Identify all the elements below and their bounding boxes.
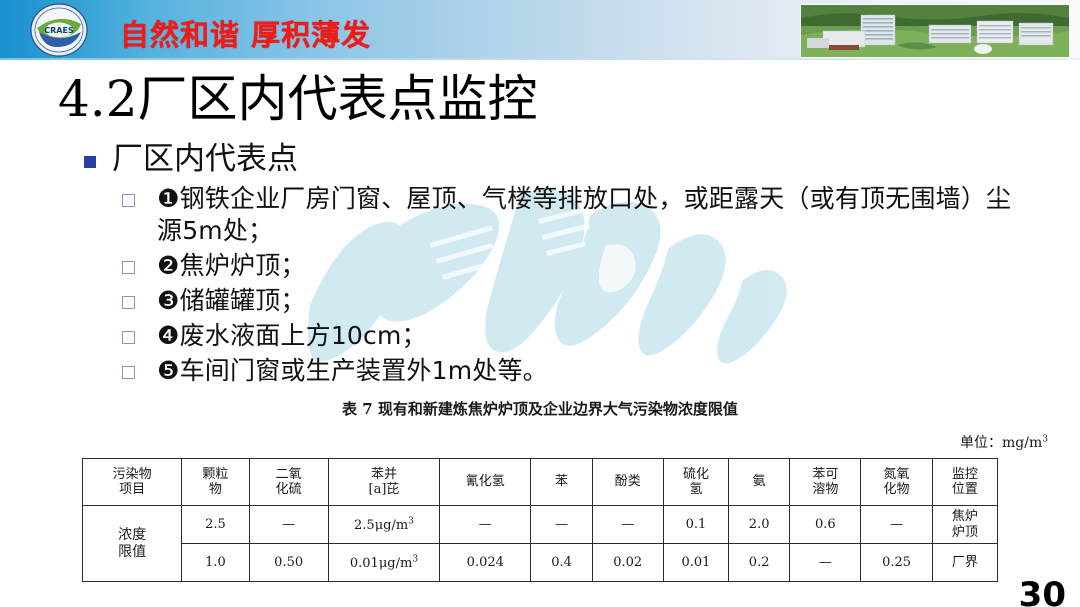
cell-text: — — [555, 517, 568, 532]
list-item-label: ❹废水液面上方10cm； — [157, 320, 427, 352]
list-item-label: ❺车间门窗或生产装置外1m处等。 — [157, 355, 548, 387]
col-header-pollutant-item: 污染物项目 — [83, 459, 182, 506]
header-text-5: 苯 — [555, 474, 568, 489]
hollow-square-bullet-icon — [122, 296, 135, 309]
cell-text: 0.50 — [274, 555, 303, 570]
cell-r1-c6: 0.01 — [663, 544, 728, 582]
cell-r0-c1: — — [249, 506, 328, 544]
list-item: ❸储罐罐顶； — [122, 285, 1022, 317]
cell-r0-c4: — — [531, 506, 592, 544]
list-item-label: ❷焦炉炉顶； — [157, 250, 306, 282]
cell-r1-c9: 0.25 — [861, 544, 932, 582]
header-text-7: 硫化氢 — [683, 467, 709, 497]
cell-r0-c6: 0.1 — [663, 506, 728, 544]
cell-text: 0.01 — [681, 555, 710, 570]
table-unit-note: 单位：mg/m3 — [960, 432, 1048, 452]
bullet-level1: 厂区内代表点 — [84, 142, 298, 178]
header-text-3: 苯并[a]芘 — [369, 467, 400, 497]
cell-text: 2.0 — [749, 517, 770, 532]
list-item: ❹废水液面上方10cm； — [122, 320, 1022, 352]
cell-r1-c5: 0.02 — [592, 544, 663, 582]
cell-text: 2.5 — [205, 517, 226, 532]
header-slogan: 自然和谐 厚积薄发 — [120, 12, 371, 54]
cell-text: 0.2 — [749, 555, 770, 570]
unit-exponent: 3 — [1042, 434, 1048, 444]
table-header-row: 污染物项目 颗粒物 二氧化硫 苯并[a]芘 氰化氢 苯 酚类 硫化氢 氨 苯可溶… — [83, 459, 998, 506]
cell-r1-c7: 0.2 — [729, 544, 790, 582]
cell-text: — — [819, 555, 832, 570]
cell-text: — — [479, 517, 492, 532]
slide-content: 厂区内代表点 ❶钢铁企业厂房门窗、屋顶、气楼等排放口处，或距露天（或有顶无围墙）… — [0, 0, 1080, 607]
campus-aerial-photo — [800, 4, 1070, 58]
col-header-hydrogen-cyanide: 氰化氢 — [440, 459, 531, 506]
cell-text: — — [890, 517, 903, 532]
col-header-monitor-location: 监控位置 — [932, 459, 997, 506]
list-item: ❶钢铁企业厂房门窗、屋顶、气楼等排放口处，或距露天（或有顶无围墙）尘源5m处； — [122, 183, 1022, 247]
table-header: 污染物项目 颗粒物 二氧化硫 苯并[a]芘 氰化氢 苯 酚类 硫化氢 氨 苯可溶… — [83, 459, 998, 506]
cell-r1-location: 厂界 — [932, 544, 997, 582]
svg-text:CRAES: CRAES — [44, 26, 74, 35]
cell-text: 厂界 — [952, 555, 978, 570]
hollow-square-bullet-icon — [122, 261, 135, 274]
col-header-particulate: 颗粒物 — [182, 459, 249, 506]
col-header-benzo-a-pyrene: 苯并[a]芘 — [328, 459, 439, 506]
cell-r0-c2: 2.5μg/m3 — [328, 506, 439, 544]
cell-text: 1.0 — [205, 555, 226, 570]
row-label-text: 浓度限值 — [118, 527, 146, 559]
table-row: 1.0 0.50 0.01μg/m3 0.024 0.4 0.02 0.01 0… — [83, 544, 998, 582]
cell-r1-c8: — — [790, 544, 861, 582]
slide-root: CRAES 自然和谐 厚积薄发 — [0, 0, 1080, 607]
cell-text: 0.024 — [467, 555, 504, 570]
table-caption: 表 7 现有和新建炼焦炉炉顶及企业边界大气污染物浓度限值 — [0, 398, 1080, 419]
square-bullet-icon — [84, 156, 96, 168]
page-number: 30 — [1019, 575, 1066, 607]
header-text-8: 氨 — [753, 474, 766, 489]
hollow-square-bullet-icon — [122, 366, 135, 379]
cell-r1-c4: 0.4 — [531, 544, 592, 582]
cell-text: 0.02 — [613, 555, 642, 570]
col-header-so2: 二氧化硫 — [249, 459, 328, 506]
hollow-square-bullet-icon — [122, 331, 135, 344]
col-header-benzene: 苯 — [531, 459, 592, 506]
unit-label: 单位： — [960, 435, 1002, 451]
table-body: 浓度限值 2.5 — 2.5μg/m3 — — — 0.1 2.0 0.6 — … — [83, 506, 998, 582]
cell-text: 0.01μg/m3 — [350, 556, 418, 571]
col-header-hydrogen-sulfide: 硫化氢 — [663, 459, 728, 506]
cell-r1-c2: 0.01μg/m3 — [328, 544, 439, 582]
header-text-2: 二氧化硫 — [276, 467, 302, 497]
header-text-9: 苯可溶物 — [812, 467, 838, 497]
cell-text: 0.6 — [815, 517, 836, 532]
bullet-level1-label: 厂区内代表点 — [112, 142, 298, 178]
cell-r0-c9: — — [861, 506, 932, 544]
col-header-phenols: 酚类 — [592, 459, 663, 506]
cell-text: — — [282, 517, 295, 532]
hollow-square-bullet-icon — [122, 194, 135, 207]
header-text-6: 酚类 — [615, 474, 641, 489]
cell-text: 2.5μg/m3 — [354, 518, 414, 533]
cell-r0-c8: 0.6 — [790, 506, 861, 544]
header-text-4: 氰化氢 — [466, 474, 505, 489]
cell-text: 0.1 — [686, 517, 707, 532]
cell-r1-c3: 0.024 — [440, 544, 531, 582]
col-header-ammonia: 氨 — [729, 459, 790, 506]
cell-r0-c0: 2.5 — [182, 506, 249, 544]
cell-text: 0.4 — [551, 555, 572, 570]
cell-text: — — [621, 517, 634, 532]
cell-r1-c1: 0.50 — [249, 544, 328, 582]
list-item-label: ❶钢铁企业厂房门窗、屋顶、气楼等排放口处，或距露天（或有顶无围墙）尘源5m处； — [157, 183, 1022, 247]
list-item: ❷焦炉炉顶； — [122, 250, 1022, 282]
row-label-concentration-limit: 浓度限值 — [83, 506, 182, 582]
header-text-11: 监控位置 — [952, 467, 978, 497]
bullet-level2-list: ❶钢铁企业厂房门窗、屋顶、气楼等排放口处，或距露天（或有顶无围墙）尘源5m处； … — [122, 183, 1022, 390]
table-row: 浓度限值 2.5 — 2.5μg/m3 — — — 0.1 2.0 0.6 — … — [83, 506, 998, 544]
header-text-0: 污染物项目 — [113, 467, 152, 497]
cell-text: 焦炉炉顶 — [952, 509, 978, 539]
cell-r0-c3: — — [440, 506, 531, 544]
col-header-benzene-soluble: 苯可溶物 — [790, 459, 861, 506]
col-header-nox: 氮氧化物 — [861, 459, 932, 506]
header-text-1: 颗粒物 — [202, 467, 228, 497]
unit-value: mg/m — [1002, 435, 1042, 451]
header-text-10: 氮氧化物 — [884, 467, 910, 497]
craes-logo-icon: CRAES — [30, 2, 88, 58]
pollutant-limits-table: 污染物项目 颗粒物 二氧化硫 苯并[a]芘 氰化氢 苯 酚类 硫化氢 氨 苯可溶… — [82, 458, 998, 582]
cell-r1-c0: 1.0 — [182, 544, 249, 582]
cell-r0-location: 焦炉炉顶 — [932, 506, 997, 544]
cell-text: 0.25 — [882, 555, 911, 570]
list-item-label: ❸储罐罐顶； — [157, 285, 306, 317]
list-item: ❺车间门窗或生产装置外1m处等。 — [122, 355, 1022, 387]
header-underline — [0, 58, 1080, 60]
cell-r0-c5: — — [592, 506, 663, 544]
cell-r0-c7: 2.0 — [729, 506, 790, 544]
